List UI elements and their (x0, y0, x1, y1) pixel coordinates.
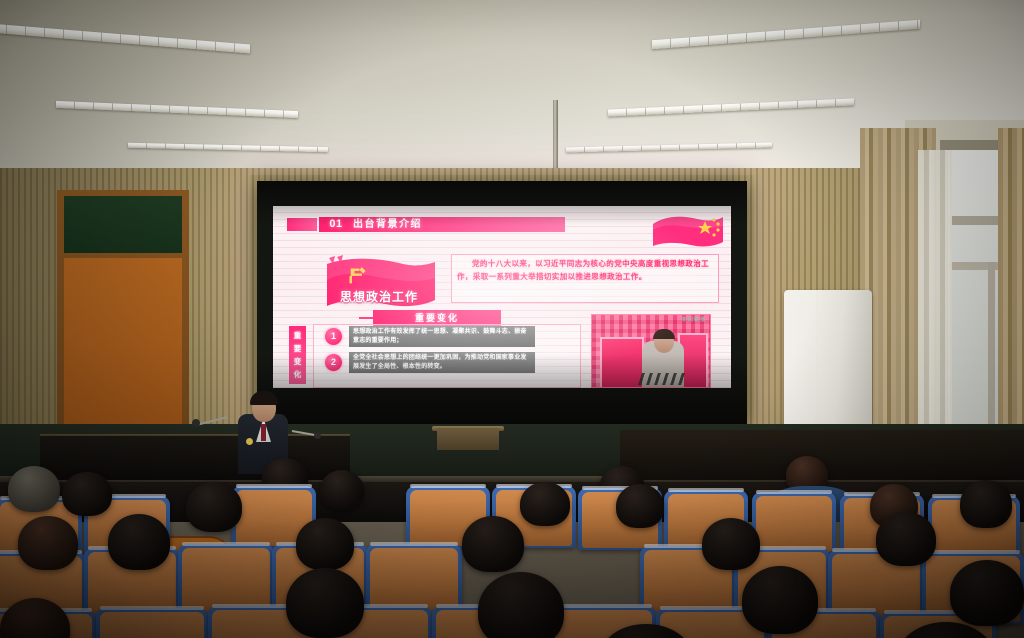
microphone-icon (314, 432, 321, 439)
window-mullion (988, 262, 995, 428)
presentation-slide: 01 出台背景介绍 (273, 206, 731, 388)
audience-head (462, 516, 524, 572)
audience-head (18, 516, 78, 570)
vertical-label-char: 化 (294, 371, 302, 379)
audience-head (616, 484, 664, 528)
list-item-text: 全党全社会思想上的团结统一更加巩固，为推动党和国家事业发展发生了全局性、根本性的… (349, 352, 535, 373)
header-accent-chip (287, 218, 317, 231)
slide-title: 出台背景介绍 (353, 217, 422, 232)
vertical-label-char: 变 (294, 358, 302, 366)
list-item-text: 思想政治工作有效发挥了统一思想、凝聚共识、鼓舞斗志、振奋意志的重要作用； (349, 326, 535, 347)
wooden-door[interactable] (64, 258, 182, 450)
projector-pole (553, 100, 558, 174)
sheer-curtain[interactable] (918, 150, 952, 448)
curtain[interactable] (998, 128, 1024, 450)
audience-head (950, 560, 1024, 626)
bullet-number: 1 (325, 328, 342, 345)
flag-banner-text: 思想政治工作 (323, 288, 435, 305)
list-item: 思想政治工作有效发挥了统一思想、凝聚共识、鼓舞斗志、振奋意志的重要作用； (349, 326, 535, 347)
audience-head (876, 512, 936, 566)
audience-area (0, 452, 1024, 638)
audience-head (296, 518, 354, 570)
lectern (437, 428, 499, 450)
audience-head (742, 566, 818, 634)
china-flag-icon (651, 212, 725, 252)
audience-head (62, 472, 112, 516)
speaker-tie (261, 424, 266, 441)
audience-head (320, 470, 364, 510)
photo-microphones-icon (638, 373, 690, 385)
door-transom-panel (64, 196, 182, 253)
audience-head (286, 568, 364, 638)
auditorium-seat[interactable] (96, 608, 208, 638)
lecture-hall-photo: 01 出台背景介绍 (0, 0, 1024, 638)
slide-section-number: 01 (323, 217, 349, 232)
bullet-number: 2 (325, 354, 342, 371)
list-item: 全党全社会思想上的团结统一更加巩固，为推动党和国家事业发展发生了全局性、根本性的… (349, 352, 535, 373)
slide-photo: 新闻联播 (591, 314, 711, 388)
audience-head (478, 572, 564, 638)
photo-caption: 新闻联播 (682, 316, 706, 323)
microphone-icon (192, 419, 200, 427)
audience-head (8, 466, 60, 512)
speaker-hair (250, 391, 278, 405)
vertical-label: 重 要 变 化 (289, 326, 306, 384)
auditorium-seat[interactable] (752, 492, 836, 554)
vertical-label-char: 重 (294, 332, 302, 340)
projection-screen: 01 出台背景介绍 (257, 181, 747, 428)
vertical-label-char: 要 (294, 345, 302, 353)
slide-paragraph: 党的十八大以来，以习近平同志为核心的党中央高度重视思想政治工作，采取一系列重大举… (457, 258, 713, 283)
speaker-badge-icon (246, 438, 253, 445)
party-flag-icon (317, 254, 439, 316)
audience-head (960, 480, 1012, 528)
photo-ornate-panel (600, 337, 644, 388)
audience-head (108, 514, 170, 570)
audience-head (186, 482, 242, 532)
audience-head (520, 482, 570, 526)
audience-head (702, 518, 760, 570)
